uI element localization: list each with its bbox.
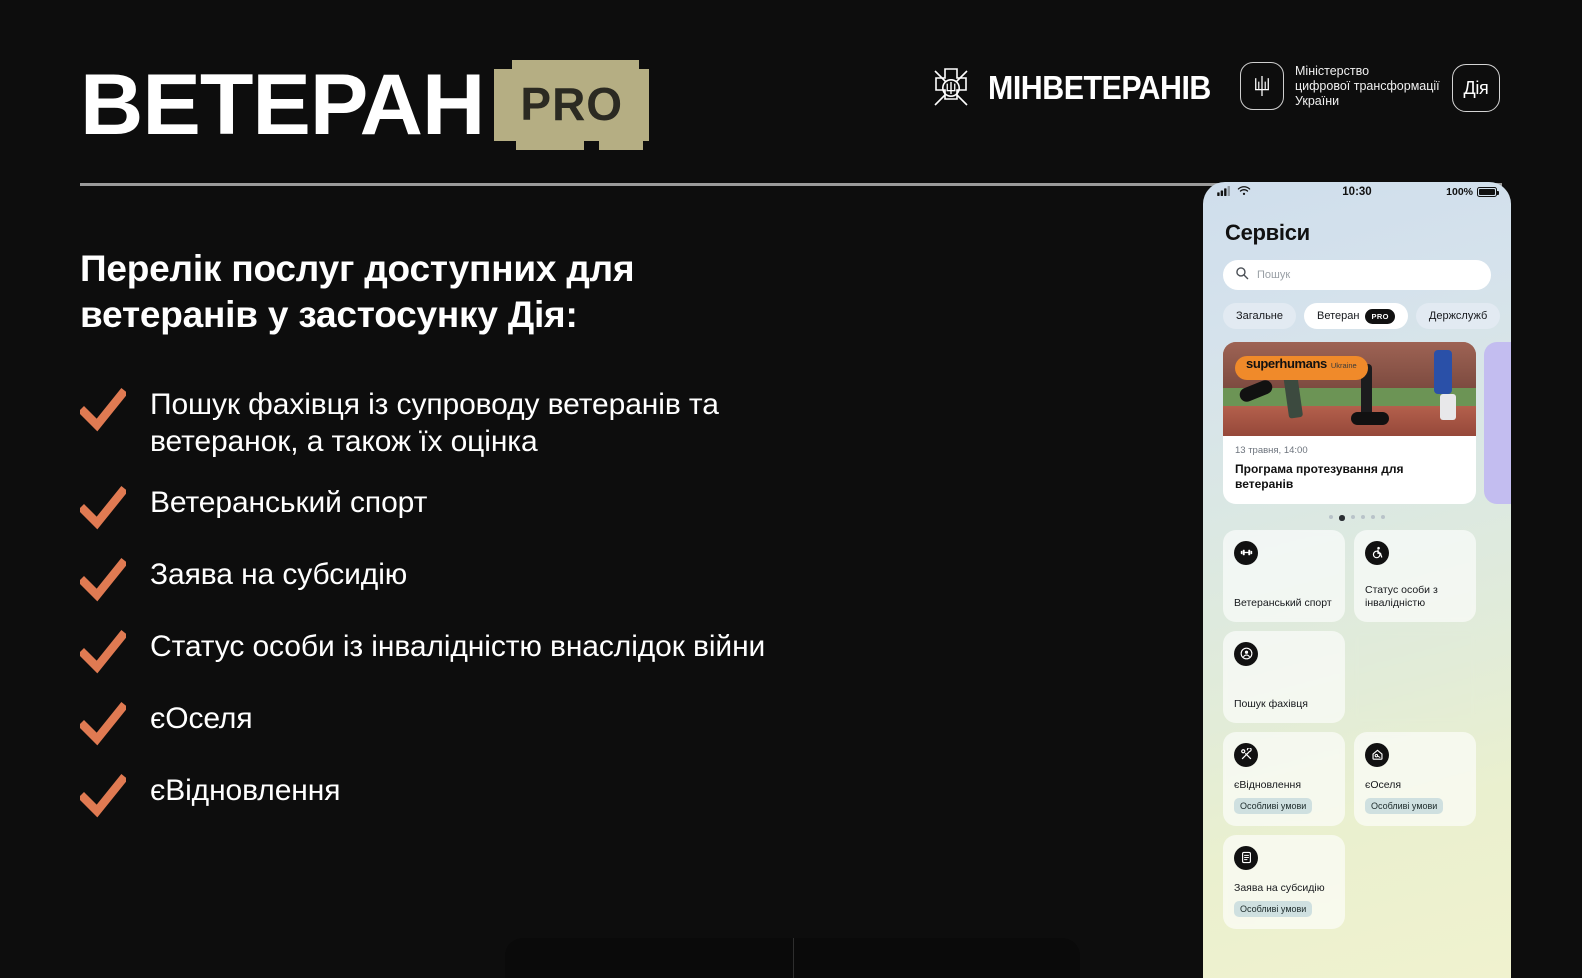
main-content: Перелік послуг доступних для ветеранів у… (80, 246, 840, 820)
tile-evidnovlennia[interactable]: єВідновлення Особливі умови (1223, 732, 1345, 826)
check-icon (80, 774, 126, 820)
list-item-label: єВідновлення (150, 770, 340, 809)
news-title: Програма протезування для ветеранів (1235, 462, 1464, 492)
search-icon (1235, 266, 1249, 285)
list-item: Заява на субсидію (80, 554, 840, 604)
news-body: 13 травня, 14:00 Програма протезування д… (1223, 436, 1476, 504)
list-item-label: Заява на субсидію (150, 554, 407, 593)
bottom-shelf-seam (793, 938, 794, 978)
battery-full-icon (1477, 187, 1497, 197)
news-image: superhumans Ukraine (1223, 342, 1476, 436)
superhumans-sub: Ukraine (1331, 361, 1357, 370)
tile-badge: Особливі умови (1234, 798, 1312, 814)
search-placeholder: Пошук (1257, 269, 1290, 281)
list-item-label: Статус особи із інвалідністю внаслідок в… (150, 626, 765, 665)
tile-poshuk-fakhivtsia[interactable]: Пошук фахівця (1223, 631, 1345, 723)
brand-pro-badge: PRO (494, 69, 649, 141)
list-item-label: Пошук фахівця із супроводу ветеранів та … (150, 384, 840, 460)
ministry-line-3: України (1295, 94, 1339, 108)
list-item-label: Ветеранський спорт (150, 482, 427, 521)
dumbbell-icon (1234, 541, 1258, 565)
carousel-dot[interactable] (1329, 515, 1333, 519)
brand-lockup: ВЕТЕРАН PRO (80, 62, 649, 148)
slide-header: ВЕТЕРАН PRO (0, 0, 1582, 190)
chip-label: Держслужб (1429, 310, 1487, 322)
list-item-label: єОселя (150, 698, 252, 737)
search-input[interactable]: Пошук (1223, 260, 1491, 290)
phone-status-bar: 10:30 100% (1203, 182, 1511, 202)
page-title: Перелік послуг доступних для ветеранів у… (80, 246, 690, 338)
brand-title: ВЕТЕРАН (80, 62, 484, 148)
pro-badge-nub-bottom (599, 140, 643, 150)
bottom-shelf (505, 938, 1080, 978)
status-time: 10:30 (1203, 186, 1511, 198)
diia-logo-badge: Дія (1452, 64, 1500, 112)
phone-mockup: 10:30 100% Сервіси Пошук (1203, 182, 1511, 978)
service-list: Пошук фахівця із супроводу ветеранів та … (80, 384, 840, 820)
hammer-wrench-icon (1234, 743, 1258, 767)
cross-trident-emblem-icon (928, 65, 974, 111)
tile-label: єВідновлення (1234, 767, 1334, 792)
service-tiles-grid: Ветеранський спорт Статус особи з інвалі… (1203, 530, 1511, 929)
pro-badge-nub-top (613, 60, 639, 70)
slide-root: ВЕТЕРАН PRO (0, 0, 1582, 978)
chip-pro-badge: PRO (1365, 309, 1394, 324)
tile-label: Статус особи з інвалідністю (1365, 572, 1465, 610)
ministry-label: Міністерство цифрової трансформації Укра… (1295, 64, 1440, 109)
pro-badge-label: PRO (520, 78, 623, 130)
chip-zagalne[interactable]: Загальне (1223, 303, 1296, 329)
tile-label: Пошук фахівця (1234, 686, 1334, 711)
superhumans-name: superhumans (1246, 356, 1327, 371)
tile-veteranskyi-sport[interactable]: Ветеранський спорт (1223, 530, 1345, 622)
category-chips: Загальне Ветеран PRO Держслужб (1203, 303, 1511, 329)
phone-screen: 10:30 100% Сервіси Пошук (1203, 182, 1511, 978)
tile-label: Заява на субсидію (1234, 870, 1334, 895)
news-card-next-peek[interactable] (1484, 342, 1511, 504)
carousel-dot[interactable] (1351, 515, 1355, 519)
superhumans-logo: superhumans Ukraine (1235, 356, 1368, 380)
minveterans-logo: МІНВЕТЕРАНІВ (928, 65, 1230, 111)
check-icon (80, 702, 126, 748)
chip-veteran[interactable]: Ветеран PRO (1304, 303, 1408, 329)
list-item: Статус особи із інвалідністю внаслідок в… (80, 626, 840, 676)
person-circle-icon (1234, 642, 1258, 666)
check-icon (80, 388, 126, 434)
check-icon (80, 486, 126, 532)
tile-zaiava-na-subsydiiu[interactable]: Заява на субсидію Особливі умови (1223, 835, 1345, 929)
chip-label: Ветеран (1317, 310, 1359, 322)
list-item: єВідновлення (80, 770, 840, 820)
list-item: Ветеранський спорт (80, 482, 840, 532)
news-card[interactable]: superhumans Ukraine 13 травня, 14:00 Про… (1223, 342, 1476, 504)
chip-derzhsluzhb[interactable]: Держслужб (1416, 303, 1500, 329)
carousel-dot[interactable] (1371, 515, 1375, 519)
news-image-shoe-front (1351, 412, 1389, 425)
list-item: Пошук фахівця із супроводу ветеранів та … (80, 384, 840, 460)
tile-label: єОселя (1365, 767, 1465, 792)
news-image-track (1223, 406, 1476, 436)
wheelchair-icon (1365, 541, 1389, 565)
tile-status-osoby-z-invalidnistyu[interactable]: Статус особи з інвалідністю (1354, 530, 1476, 622)
house-key-icon (1365, 743, 1389, 767)
news-date: 13 травня, 14:00 (1235, 445, 1464, 456)
carousel-dot[interactable] (1381, 515, 1385, 519)
ministry-digital-transformation-logo: Міністерство цифрової трансформації Укра… (1240, 62, 1440, 110)
check-icon (80, 558, 126, 604)
document-icon (1234, 846, 1258, 870)
trident-icon (1240, 62, 1284, 110)
screen-title: Сервіси (1203, 202, 1511, 246)
tile-badge: Особливі умови (1234, 901, 1312, 917)
news-carousel: superhumans Ukraine 13 травня, 14:00 Про… (1203, 342, 1511, 504)
carousel-dots (1203, 515, 1511, 521)
list-item: єОселя (80, 698, 840, 748)
tile-eoselia[interactable]: єОселя Особливі умови (1354, 732, 1476, 826)
carousel-dot[interactable] (1361, 515, 1365, 519)
chip-label: Загальне (1236, 310, 1283, 322)
news-image-player-legs (1440, 394, 1456, 420)
news-image-player-torso (1434, 350, 1452, 394)
minveterans-label: МІНВЕТЕРАНІВ (988, 69, 1211, 107)
tile-badge: Особливі умови (1365, 798, 1443, 814)
ministry-line-2: цифрової трансформації (1295, 79, 1440, 93)
tile-label: Ветеранський спорт (1234, 585, 1334, 610)
check-icon (80, 630, 126, 676)
tile-spacer (1354, 631, 1476, 723)
carousel-dot-active[interactable] (1339, 515, 1345, 521)
ministry-line-1: Міністерство (1295, 64, 1369, 78)
